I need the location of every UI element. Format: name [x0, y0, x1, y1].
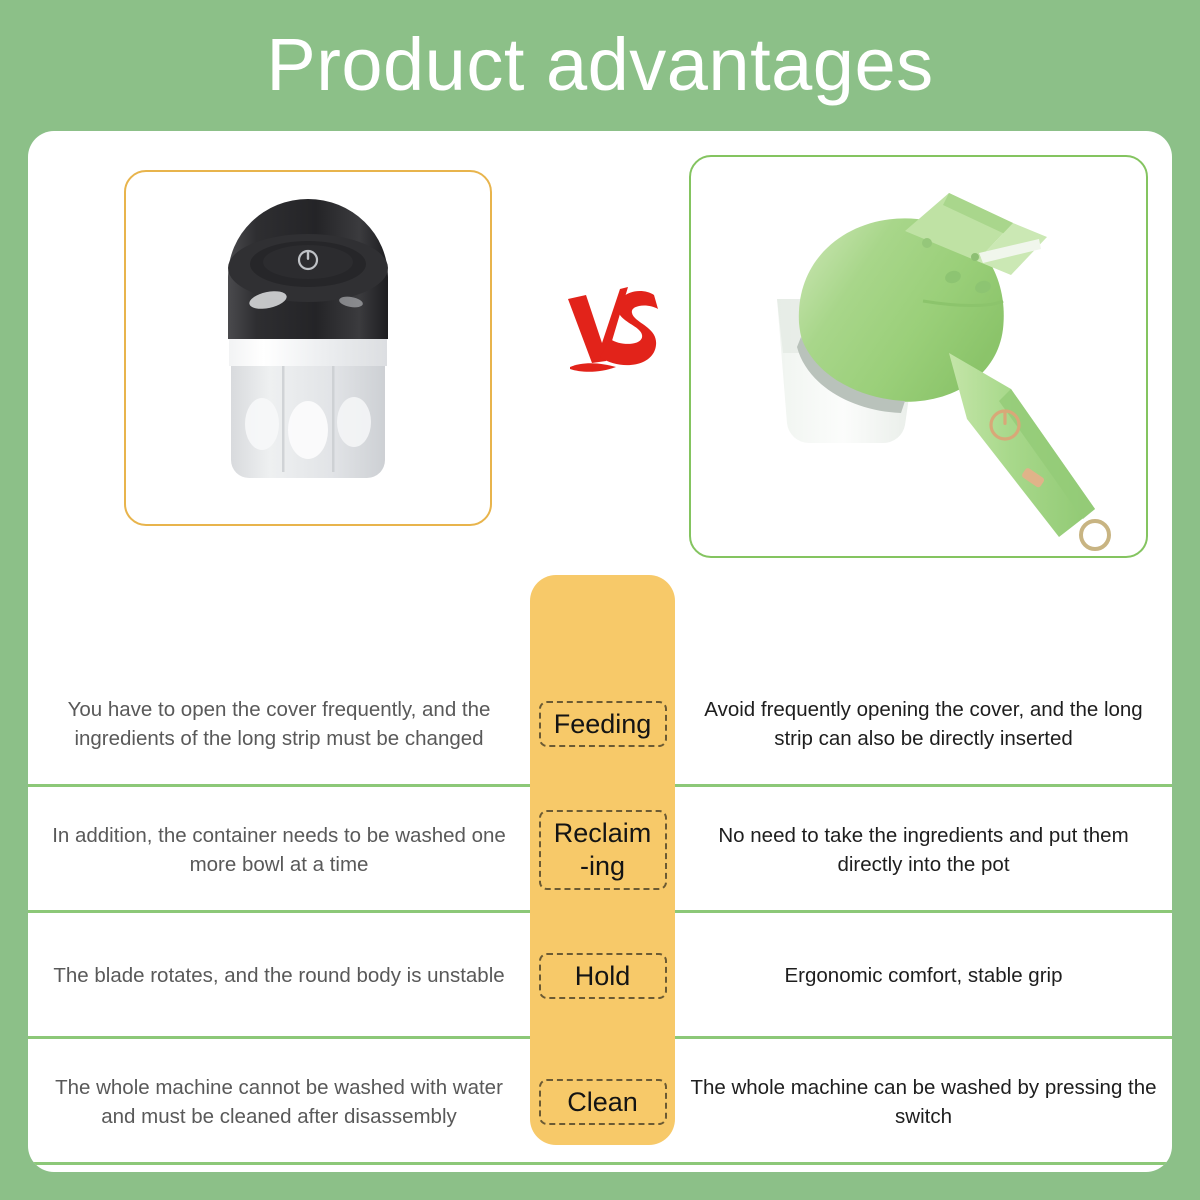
comparison-table: You have to open the cover frequently, a… — [28, 575, 1172, 1172]
category-label-hold: Hold — [539, 953, 667, 1000]
vs-icon — [558, 281, 668, 381]
content-card: You have to open the cover frequently, a… — [28, 131, 1172, 1172]
row-left-text: The blade rotates, and the round body is… — [28, 961, 530, 990]
row-left-text: The whole machine cannot be washed with … — [28, 1073, 530, 1131]
row-right-text: No need to take the ingredients and put … — [675, 821, 1172, 879]
right-product-image-box — [689, 155, 1148, 558]
row-right-text: The whole machine can be washed by press… — [675, 1073, 1172, 1131]
row-left-text: In addition, the container needs to be w… — [28, 821, 530, 879]
category-slot: Feeding — [530, 661, 675, 787]
category-slot: Hold — [530, 913, 675, 1039]
category-labels: Feeding Reclaim -ing Hold Clean — [530, 661, 675, 1165]
handheld-vegetable-cutter-icon — [691, 157, 1146, 556]
mini-garlic-chopper-icon — [126, 172, 490, 524]
category-label-reclaiming: Reclaim -ing — [539, 810, 667, 890]
row-right-text: Avoid frequently opening the cover, and … — [675, 695, 1172, 753]
category-slot: Reclaim -ing — [530, 787, 675, 913]
row-right-text: Ergonomic comfort, stable grip — [675, 961, 1172, 990]
page-title: Product advantages — [266, 28, 933, 102]
category-label-feeding: Feeding — [539, 701, 667, 748]
product-images-section — [28, 131, 1172, 575]
category-slot: Clean — [530, 1039, 675, 1165]
left-product-image-box — [124, 170, 492, 526]
product-advantages-poster: Product advantages — [0, 0, 1200, 1200]
category-label-clean: Clean — [539, 1079, 667, 1126]
poster-header: Product advantages — [0, 0, 1200, 130]
versus-badge — [553, 271, 673, 391]
row-left-text: You have to open the cover frequently, a… — [28, 695, 530, 753]
